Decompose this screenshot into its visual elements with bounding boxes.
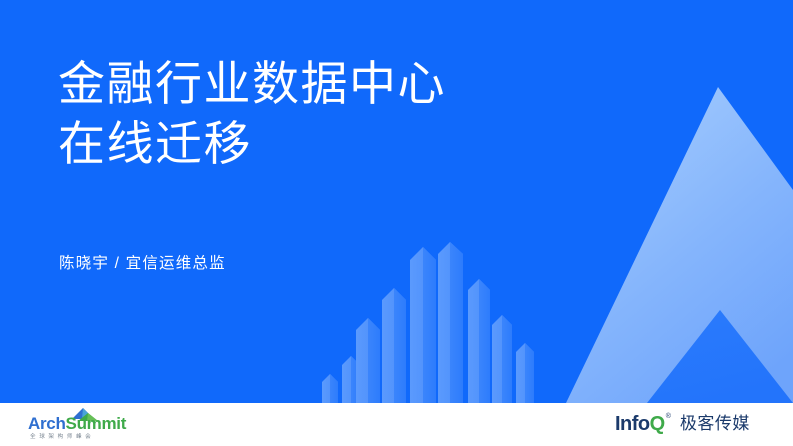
archsummit-word-summit: Summit: [66, 414, 127, 433]
infoq-word-info: Info: [615, 414, 650, 434]
archsummit-word-arch: Arch: [28, 414, 66, 433]
infoq-word-q: Q: [650, 414, 665, 434]
presenter-byline: 陈晓宇 / 宜信运维总监: [59, 251, 226, 273]
archsummit-tagline: 全球架构师峰会: [30, 433, 94, 441]
slide-title: 金融行业数据中心 在线迁移: [58, 54, 658, 174]
title-line-2: 在线迁移: [58, 114, 658, 174]
registered-trademark-icon: ®: [666, 413, 671, 420]
archsummit-logo: ArchSummit 全球架构师峰会: [28, 408, 198, 444]
slide-footer: ArchSummit 全球架构师峰会 Info Q ® 极客传媒: [0, 403, 793, 446]
title-line-1: 金融行业数据中心: [58, 54, 658, 114]
presentation-slide: 金融行业数据中心 在线迁移 陈晓宇 / 宜信运维总监 ArchSummit 全球…: [0, 0, 793, 446]
archsummit-wordmark: ArchSummit: [28, 415, 126, 433]
infoq-logo: Info Q ® 极客传媒: [615, 411, 750, 437]
infoq-chinese-name: 极客传媒: [680, 414, 750, 434]
